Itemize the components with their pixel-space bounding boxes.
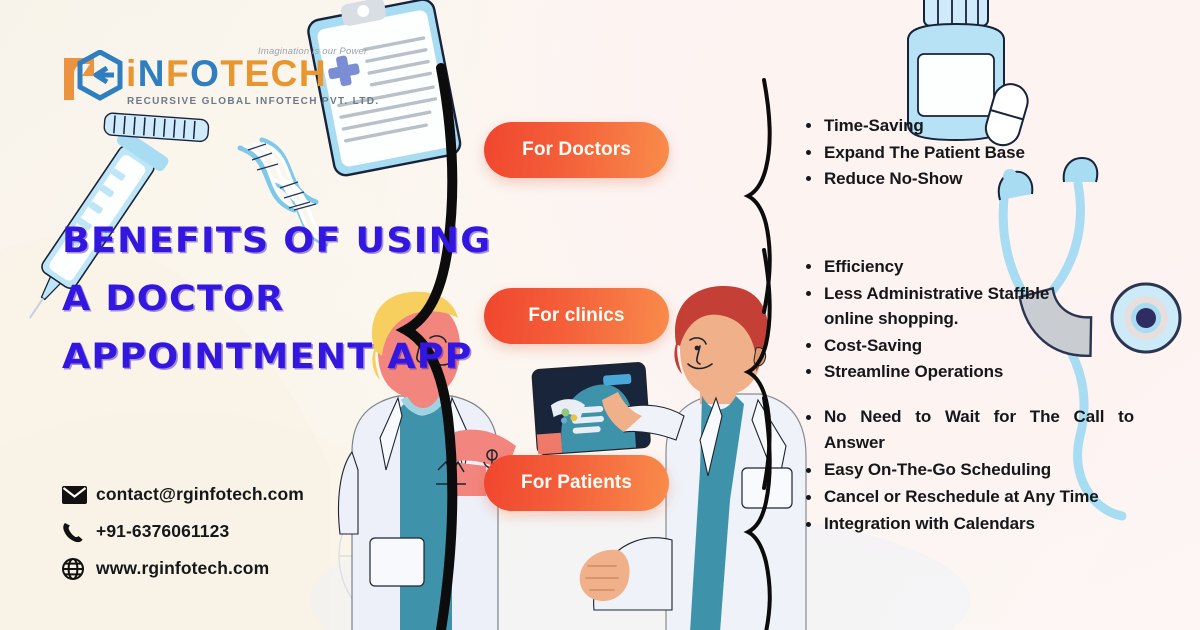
list-item: Less Administrative Staffble online shop… bbox=[802, 281, 1094, 332]
logo-letter-i: i bbox=[126, 53, 138, 94]
benefits-list-doctors: Time-Saving Expand The Patient Base Redu… bbox=[802, 113, 1142, 193]
title-line-2: a Doctor bbox=[62, 270, 509, 328]
list-item: Cost-Saving bbox=[802, 333, 1094, 359]
benefits-list-clinics: Efficiency Less Administrative Staffble … bbox=[802, 254, 1094, 386]
list-item: Time-Saving bbox=[802, 113, 1142, 139]
logo-wordmark: iNFOTECH bbox=[126, 55, 327, 92]
pill-label-patients: For Patients bbox=[521, 472, 632, 494]
infographic-canvas: Imagination is our Power iNFOTECH RECURS… bbox=[0, 0, 1200, 630]
contact-email-row[interactable]: contact@rginfotech.com bbox=[62, 476, 402, 513]
logo-letter-o: O bbox=[190, 53, 220, 94]
list-item: Efficiency bbox=[802, 254, 1094, 280]
logo-letter-n: N bbox=[138, 53, 166, 94]
category-pill-clinics[interactable]: For clinics bbox=[484, 288, 669, 344]
contact-block: contact@rginfotech.com +91-6376061123 ww… bbox=[62, 476, 402, 587]
list-item: Streamline Operations bbox=[802, 359, 1094, 385]
benefits-list-patients: No Need to Wait for The Call to Answer E… bbox=[802, 404, 1134, 538]
rg-hexagon-logo-icon bbox=[60, 50, 124, 106]
list-item: Integration with Calendars bbox=[802, 511, 1134, 537]
page-title: Benefits of Using a Doctor Appointment A… bbox=[62, 212, 509, 386]
logo-legal-name: RECURSIVE GLOBAL INFOTECH PVT. LTD. bbox=[127, 96, 379, 107]
title-line-3: Appointment App bbox=[62, 328, 509, 386]
list-item: Reduce No-Show bbox=[802, 166, 1142, 192]
logo-letter-f: F bbox=[166, 53, 190, 94]
title-line-1: Benefits of Using bbox=[62, 212, 509, 270]
globe-icon bbox=[62, 558, 96, 580]
contact-phone-row[interactable]: +91-6376061123 bbox=[62, 513, 402, 550]
category-pill-doctors[interactable]: For Doctors bbox=[484, 122, 669, 178]
list-item: Expand The Patient Base bbox=[802, 140, 1142, 166]
contact-email-text: contact@rginfotech.com bbox=[96, 484, 304, 505]
pill-label-doctors: For Doctors bbox=[522, 139, 631, 161]
logo-letters-tech: TECH bbox=[220, 53, 327, 94]
contact-website-text: www.rginfotech.com bbox=[96, 558, 269, 579]
list-item: Easy On-The-Go Scheduling bbox=[802, 457, 1134, 483]
category-pill-patients[interactable]: For Patients bbox=[484, 455, 669, 511]
phone-icon bbox=[62, 521, 96, 543]
contact-website-row[interactable]: www.rginfotech.com bbox=[62, 550, 402, 587]
list-item: Cancel or Reschedule at Any Time bbox=[802, 484, 1134, 510]
envelope-icon bbox=[62, 486, 96, 504]
list-item: No Need to Wait for The Call to Answer bbox=[802, 404, 1134, 456]
pill-label-clinics: For clinics bbox=[528, 305, 624, 327]
brand-logo: Imagination is our Power iNFOTECH RECURS… bbox=[60, 46, 360, 112]
contact-phone-text: +91-6376061123 bbox=[96, 521, 229, 542]
